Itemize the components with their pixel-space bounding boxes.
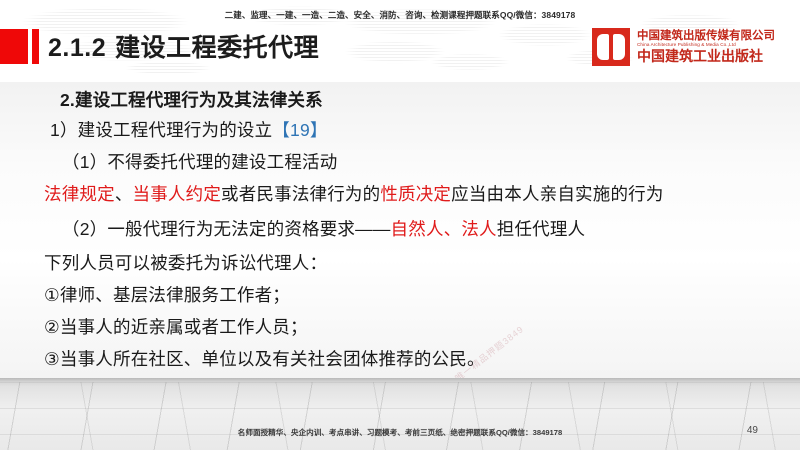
page-number: 49: [747, 425, 758, 436]
content-heading: 2.建设工程代理行为及其法律关系: [60, 87, 323, 112]
book-left-page: [597, 34, 609, 60]
page-title-text: 建设工程委托代理: [115, 34, 319, 62]
content-line-3-red-2: 当事人约定: [133, 184, 222, 204]
content-line-4-red: 自然人、法人: [391, 219, 497, 239]
publisher-company-en: China Architecture Publishing & Media Co…: [637, 43, 775, 48]
content-list-item-3: ③当事人所在社区、单位以及有关社会团体推荐的公民。: [44, 346, 485, 371]
slide-footer: 名师面授精华、央企内训、考点串讲、习题模考、考前三页纸、绝密押题联系QQ/微信：…: [0, 378, 800, 450]
open-book-icon: [592, 28, 630, 66]
content-line-3: 法律规定、当事人约定或者民事法律行为的性质决定应当由本人亲自实施的行为: [44, 181, 664, 206]
promo-banner-text: 二建、监理、一建、一造、二造、安全、消防、咨询、检测课程押题联系QQ/微信：38…: [0, 9, 800, 21]
content-line-1-text: 1）建设工程代理行为的设立: [50, 120, 272, 140]
floor-grid-pattern: [0, 382, 800, 450]
title-accent-block-wide: [0, 29, 28, 64]
presentation-slide: 二建、监理、一建、一造、二造、安全、消防、咨询、检测课程押题联系QQ/微信：38…: [0, 0, 800, 450]
publisher-company-cn: 中国建筑出版传媒有限公司: [637, 30, 775, 42]
publisher-logo-text: 中国建筑出版传媒有限公司 China Architecture Publishi…: [637, 30, 775, 65]
content-line-3-red-1: 法律规定: [44, 184, 115, 204]
title-accent-block-narrow: [32, 29, 39, 64]
slide-header: 二建、监理、一建、一造、二造、安全、消防、咨询、检测课程押题联系QQ/微信：38…: [0, 0, 800, 82]
content-line-4-tail: 担任代理人: [497, 219, 586, 239]
content-line-5: 下列人员可以被委托为诉讼代理人：: [44, 250, 327, 275]
publisher-press-cn: 中国建筑工业出版社: [637, 50, 775, 65]
content-list-item-1: ①律师、基层法律服务工作者；: [44, 282, 290, 307]
page-title: 2.1.2建设工程委托代理: [48, 28, 319, 64]
footer-note-text: 名师面授精华、央企内训、考点串讲、习题模考、考前三页纸、绝密押题联系QQ/微信：…: [0, 427, 800, 438]
book-right-page: [613, 34, 625, 60]
content-line-1-reference: 【19】: [272, 120, 327, 140]
content-line-4: （2）一般代理行为无法定的资格要求——自然人、法人担任代理人: [62, 216, 585, 241]
content-line-4-head: （2）一般代理行为无法定的资格要求——: [62, 219, 391, 239]
content-line-3-middle: 或者民事法律行为的: [221, 184, 380, 204]
content-line-3-tail: 应当由本人亲自实施的行为: [451, 184, 663, 204]
publisher-logo: 中国建筑出版传媒有限公司 China Architecture Publishi…: [592, 28, 775, 66]
slide-body: 唯一精品押题3849 2.建设工程代理行为及其法律关系 1）建设工程代理行为的设…: [0, 82, 800, 378]
content-list-item-2: ②当事人的近亲属或者工作人员；: [44, 314, 308, 339]
page-title-number: 2.1.2: [48, 34, 106, 62]
content-line-2: （1）不得委托代理的建设工程活动: [62, 149, 337, 174]
content-line-1: 1）建设工程代理行为的设立【19】: [50, 117, 328, 142]
book-spine: [609, 34, 613, 60]
content-line-3-separator: 、: [115, 184, 133, 204]
content-line-3-red-3: 性质决定: [380, 184, 451, 204]
